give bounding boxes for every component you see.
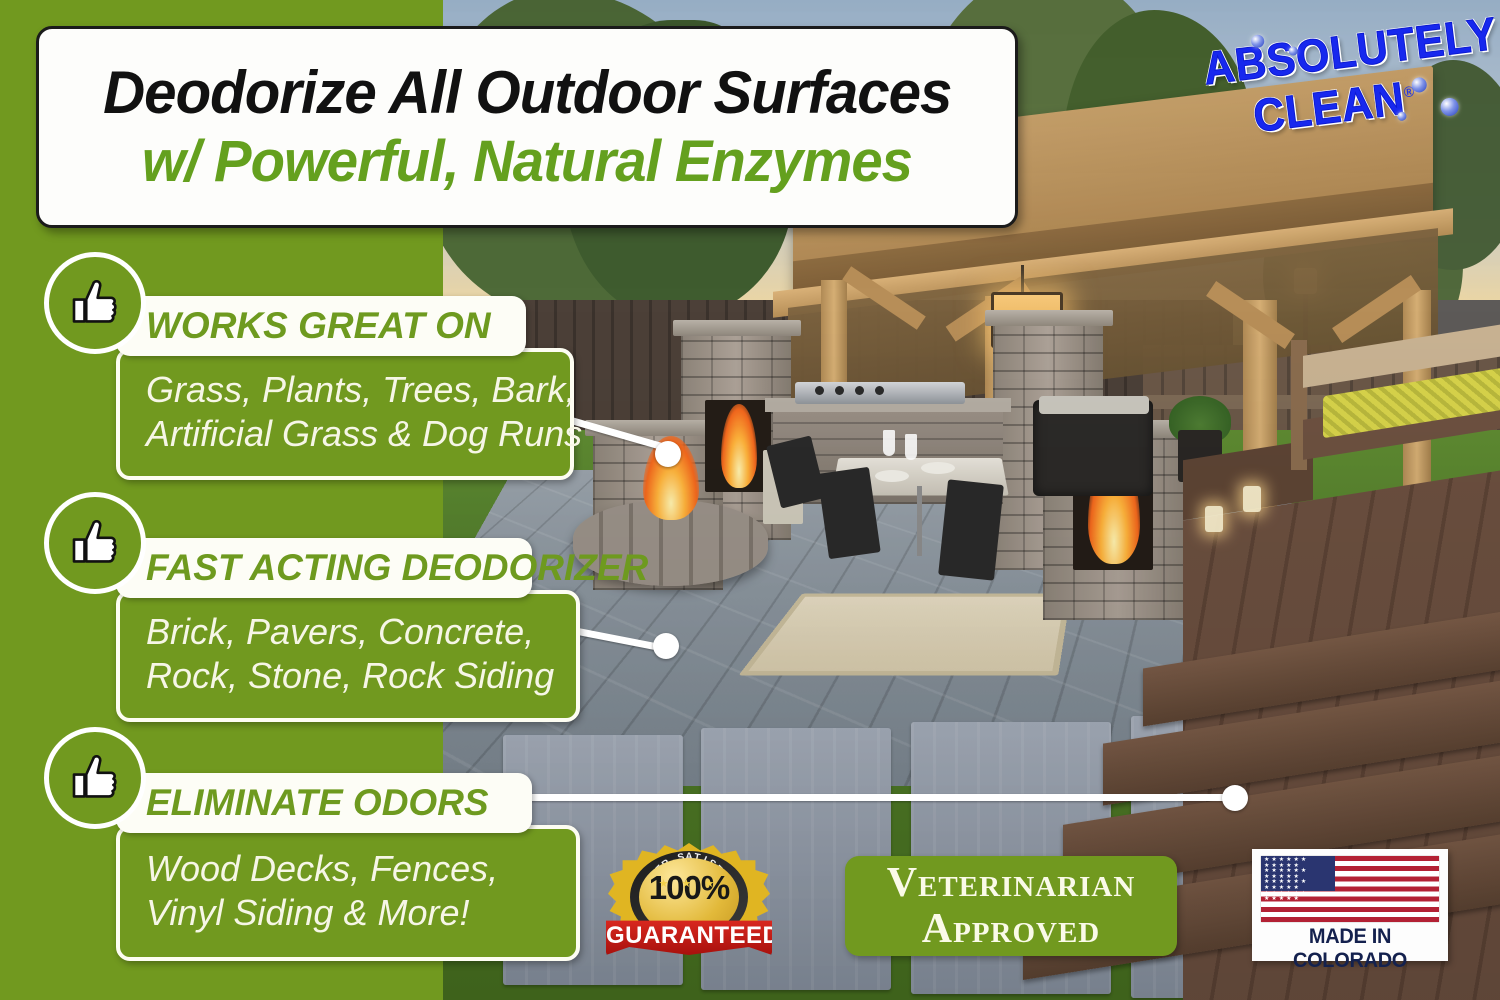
leader-dot — [655, 441, 681, 467]
thumbs-up-icon — [44, 492, 146, 594]
feature-heading-1: WORKS GREAT ON — [116, 305, 491, 347]
made-in-colorado-badge: ★★★★★★ ★★★★★ ★★★★★★ ★★★★★ ★★★★★★ ★★★★★ ★… — [1252, 849, 1448, 961]
headline-line1: Deodorize All Outdoor Surfaces — [103, 58, 951, 128]
product-marketing-poster: ABSOLUTELY CLEAN® Deodorize All Outdoor … — [0, 0, 1500, 1000]
feature-heading-band-3: ELIMINATE ODORS — [116, 773, 532, 833]
feature-body-band-1: Grass, Plants, Trees, Bark, Artificial G… — [116, 348, 574, 480]
vet-line2: Approved — [922, 906, 1101, 952]
feature-body-line2-3: Vinyl Siding & More! — [146, 891, 562, 935]
feature-body-line2-1: Artificial Grass & Dog Runs — [146, 412, 556, 456]
thumbs-up-icon — [44, 727, 146, 829]
feature-body-line1-2: Brick, Pavers, Concrete, — [146, 610, 562, 654]
feature-body-band-2: Brick, Pavers, Concrete, Rock, Stone, Ro… — [116, 590, 580, 722]
vet-line1: Veterinarian — [887, 860, 1136, 906]
feature-body-line2-2: Rock, Stone, Rock Siding — [146, 654, 562, 698]
feature-heading-band-1: WORKS GREAT ON — [116, 296, 526, 356]
usa-flag-icon: ★★★★★★ ★★★★★ ★★★★★★ ★★★★★ ★★★★★★ ★★★★★ ★… — [1261, 856, 1439, 922]
ribbon-text: GUARANTEED — [606, 922, 772, 950]
feature-heading-2: FAST ACTING DEODORIZER — [116, 547, 648, 589]
headline-banner: Deodorize All Outdoor Surfaces w/ Powerf… — [36, 26, 1018, 228]
feature-body-band-3: Wood Decks, Fences, Vinyl Siding & More! — [116, 825, 580, 961]
satisfaction-guarantee-seal: CUSTOMER SATISFACTION 100% GUARANTEED ★ … — [606, 843, 772, 965]
leader-line — [500, 794, 1240, 801]
feature-body-line1-1: Grass, Plants, Trees, Bark, — [146, 368, 556, 412]
ribbon-stars: ★ ★ ★ — [606, 877, 772, 890]
feature-heading-3: ELIMINATE ODORS — [116, 782, 489, 824]
feature-body-line1-3: Wood Decks, Fences, — [146, 847, 562, 891]
feature-heading-band-2: FAST ACTING DEODORIZER — [116, 538, 532, 598]
guarantee-ribbon: GUARANTEED — [606, 915, 772, 955]
headline-line2: w/ Powerful, Natural Enzymes — [142, 128, 912, 196]
leader-dot — [1222, 785, 1248, 811]
logo-line2-text: CLEAN — [1251, 72, 1408, 142]
flag-stars: ★★★★★★ ★★★★★ ★★★★★★ ★★★★★ ★★★★★★ ★★★★★ ★… — [1261, 856, 1335, 891]
thumbs-up-icon — [44, 252, 146, 354]
veterinarian-approved-badge: Veterinarian Approved — [845, 856, 1177, 956]
made-in-colorado-caption: MADE IN COLORADO — [1257, 925, 1443, 973]
leader-dot — [653, 633, 679, 659]
